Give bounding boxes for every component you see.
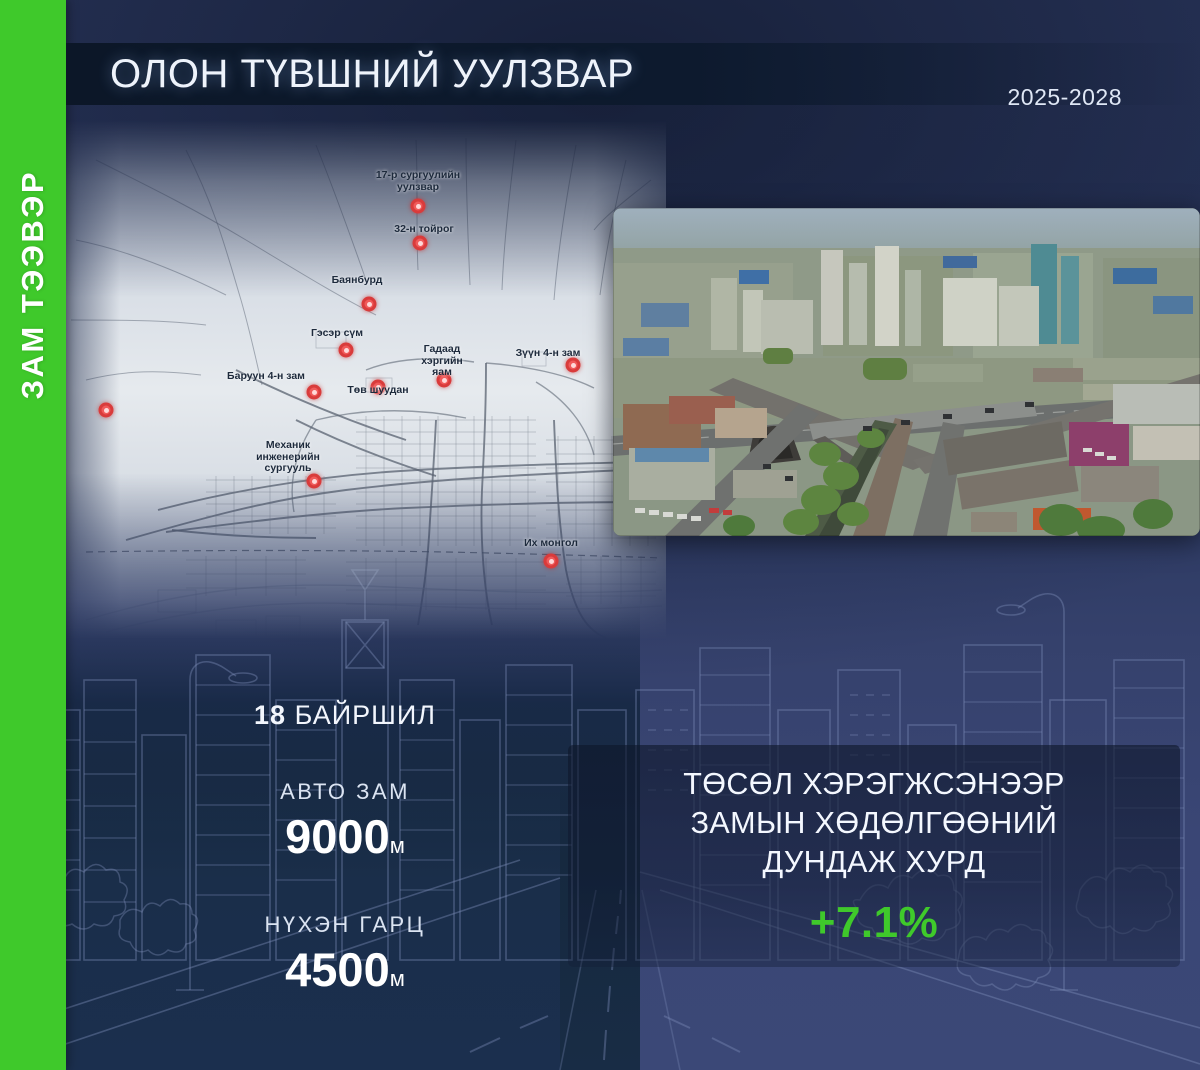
stat-value-road: 9000м <box>150 809 540 864</box>
stat-value-underpass: 4500м <box>150 942 540 997</box>
map-marker-label: 32-н тойрог <box>394 224 454 236</box>
stat-unit-road: м <box>390 833 405 858</box>
stat-label-underpass: НҮХЭН ГАРЦ <box>150 912 540 938</box>
map-marker-label: Төв шуудан <box>347 385 408 397</box>
map-marker-label: Их монгол <box>524 538 578 550</box>
map-marker-label: Гэсэр сүм <box>311 328 363 340</box>
map-marker-label: Баянбурд <box>332 275 383 287</box>
stats-column: 18 БАЙРШИЛ АВТО ЗАМ 9000м НҮХЭН ГАРЦ 450… <box>150 700 540 997</box>
city-map-panel[interactable]: 17-р сургуулийн уулзвар32-н тойрогБаянбу… <box>66 120 666 640</box>
stat-item-road: АВТО ЗАМ 9000м <box>150 779 540 864</box>
stat-unit-underpass: м <box>390 966 405 991</box>
map-road-network <box>66 120 666 640</box>
map-marker[interactable] <box>339 343 354 358</box>
map-marker[interactable] <box>411 199 426 214</box>
callout-percent: +7.1% <box>810 898 938 948</box>
map-marker-label: 17-р сургуулийн уулзвар <box>376 170 460 193</box>
locations-label: БАЙРШИЛ <box>295 700 436 730</box>
map-marker[interactable] <box>566 358 581 373</box>
map-marker[interactable] <box>544 554 559 569</box>
map-marker[interactable] <box>362 297 377 312</box>
vertical-brand-bar: ЗАМ ТЭЭВЭР <box>0 0 66 1070</box>
page-title: ОЛОН ТҮВШНИЙ УУЛЗВАР <box>110 52 634 97</box>
stat-number-road: 9000 <box>285 810 390 863</box>
stat-item-underpass: НҮХЭН ГАРЦ 4500м <box>150 912 540 997</box>
map-marker-label: Баруун 4-н зам <box>227 371 305 383</box>
map-marker[interactable] <box>413 236 428 251</box>
map-canvas <box>66 120 666 640</box>
map-marker[interactable] <box>99 403 114 418</box>
map-marker-label: Зүүн 4-н зам <box>516 348 581 360</box>
locations-count: 18 <box>254 700 286 730</box>
date-range-label: 2025-2028 <box>1008 84 1123 111</box>
map-marker-label: Гадаад хэргийн яам <box>421 344 463 379</box>
sidebar-label: ЗАМ ТЭЭВЭР <box>15 170 51 399</box>
aerial-interchange-photo[interactable] <box>613 208 1200 536</box>
map-marker[interactable] <box>307 385 322 400</box>
infographic-page: 17-р сургуулийн уулзвар32-н тойрогБаянбу… <box>0 0 1200 1070</box>
locations-stat: 18 БАЙРШИЛ <box>150 700 540 731</box>
impact-callout-box: ТӨСӨЛ ХЭРЭГЖСЭНЭЭР ЗАМЫН ХӨДӨЛГӨӨНИЙ ДУН… <box>568 745 1180 967</box>
map-marker[interactable] <box>307 474 322 489</box>
stat-label-road: АВТО ЗАМ <box>150 779 540 805</box>
callout-text: ТӨСӨЛ ХЭРЭГЖСЭНЭЭР ЗАМЫН ХӨДӨЛГӨӨНИЙ ДУН… <box>683 765 1064 882</box>
stat-number-underpass: 4500 <box>285 943 390 996</box>
map-marker-label: Механик инженерийн сургууль <box>256 440 320 475</box>
